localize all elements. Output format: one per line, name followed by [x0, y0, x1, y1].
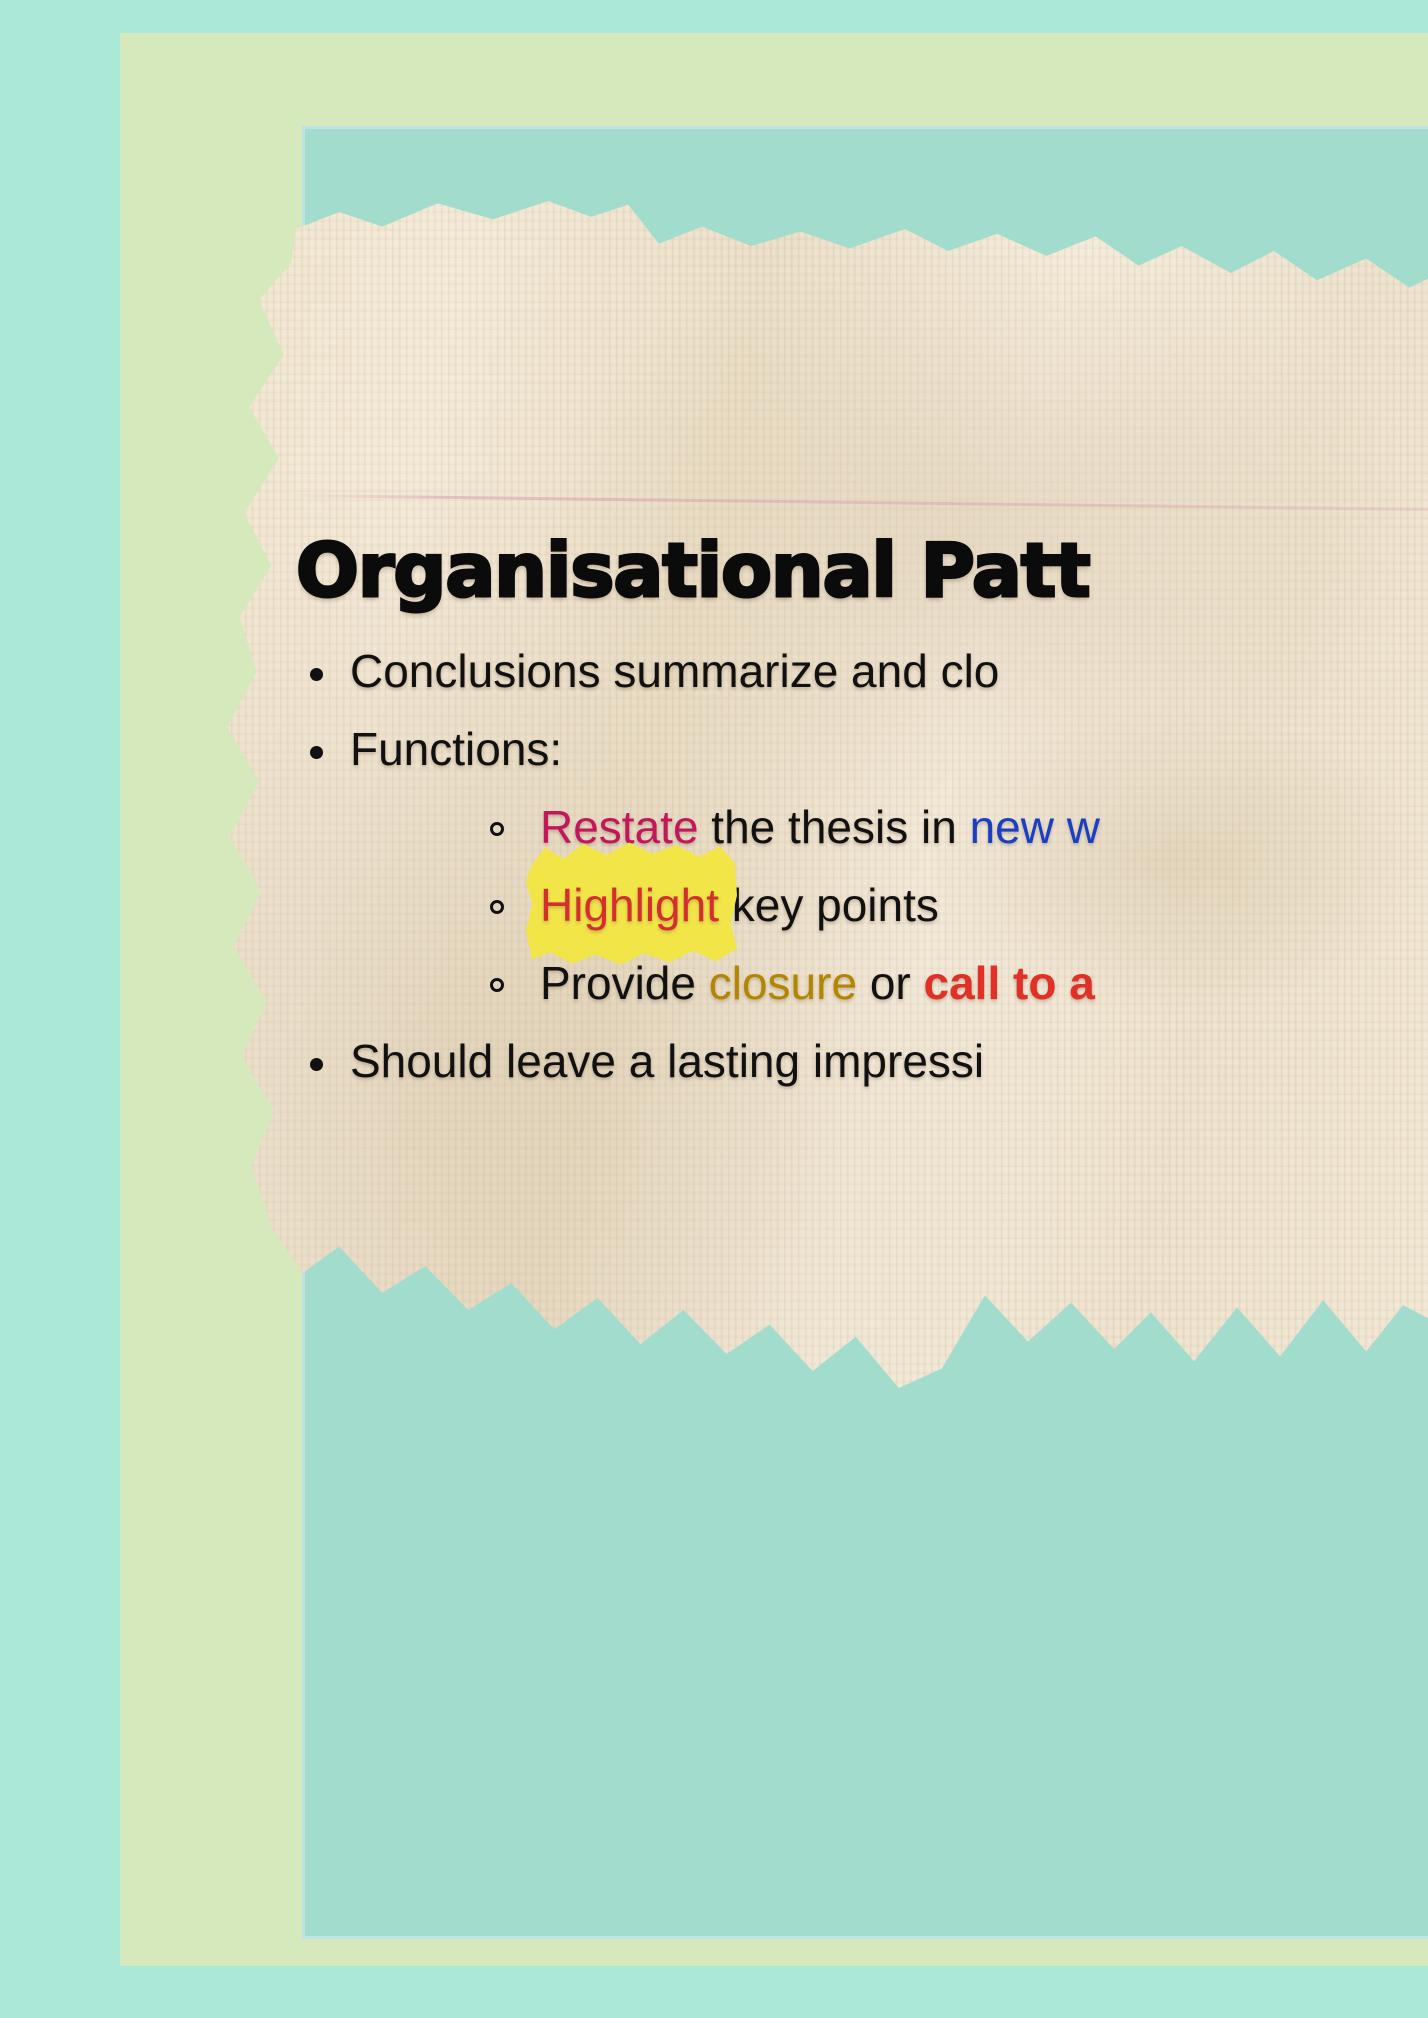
- list-item: Should leave a lasting impressi: [296, 1022, 1428, 1100]
- bullet-text: the thesis in: [699, 801, 970, 853]
- slide-content: Organisational Patt Conclusions summariz…: [210, 190, 1428, 1410]
- bullet-text: key points: [719, 879, 939, 931]
- highlight-marker: Highlight: [540, 866, 719, 944]
- sub-bullet-list: Restate the thesis in new w Highlight ke…: [350, 788, 1428, 1022]
- bullet-text-closure: closure: [709, 957, 857, 1009]
- bullet-text-new-words: new w: [970, 801, 1100, 853]
- list-item: Provide closure or call to a: [350, 944, 1428, 1022]
- list-item: Highlight key points: [350, 866, 1428, 944]
- page-title: Organisational Patt: [296, 528, 1090, 614]
- bullet-text-highlight: Highlight: [540, 879, 719, 931]
- list-item: Restate the thesis in new w: [350, 788, 1428, 866]
- bullet-text: or: [857, 957, 923, 1009]
- bullet-text-restate: Restate: [540, 801, 699, 853]
- bullet-text: Conclusions summarize and clo: [350, 645, 999, 697]
- list-item: Conclusions summarize and clo: [296, 632, 1428, 710]
- bullet-text: Functions:: [350, 723, 562, 775]
- list-item: Functions: Restate the thesis in new w H…: [296, 710, 1428, 1022]
- bullet-list: Conclusions summarize and clo Functions:…: [296, 632, 1428, 1100]
- bullet-text-call-to-action: call to a: [924, 957, 1095, 1009]
- bullet-text: Should leave a lasting impressi: [350, 1035, 984, 1087]
- bullet-text: Provide: [540, 957, 709, 1009]
